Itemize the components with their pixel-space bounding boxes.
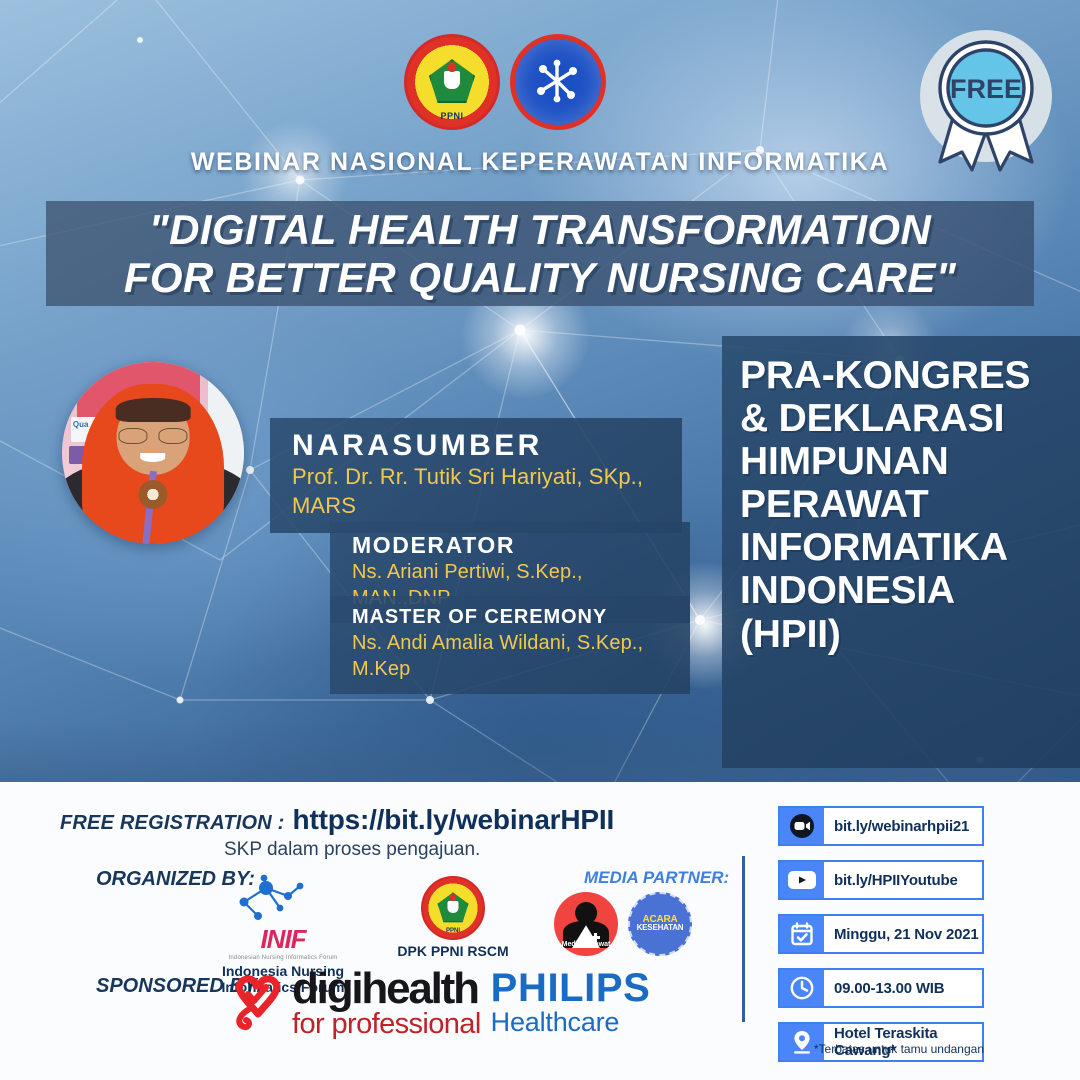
registration-row: FREE REGISTRATION : https://bit.ly/webin… — [60, 804, 614, 836]
location-pin-icon — [780, 1024, 824, 1060]
free-badge-text: FREE — [950, 74, 1022, 104]
portrait-glasses-icon — [118, 428, 187, 444]
event-title-line-3: HIMPUNAN — [740, 440, 1066, 483]
event-title-line-6: INDONESIA — [740, 569, 1066, 612]
hpii-network-glyph — [527, 51, 589, 113]
info-badge-youtube-text: bit.ly/HPIIYoutube — [824, 862, 982, 898]
speaker-role-mc: MASTER OF CEREMONY — [352, 606, 668, 630]
youtube-play-icon — [780, 862, 824, 898]
main-title-bar: "DIGITAL HEALTH TRANSFORMATION FOR BETTE… — [46, 201, 1034, 306]
portrait-brooch — [138, 480, 167, 509]
zoom-camera-icon — [780, 808, 824, 844]
free-ribbon-badge: FREE — [910, 22, 1062, 174]
ppni-lamp-icon — [444, 71, 460, 89]
speaker-role-moderator: MODERATOR — [352, 532, 668, 559]
main-title-line-2: FOR BETTER QUALITY NURSING CARE" — [124, 254, 956, 301]
main-title-line-1: "DIGITAL HEALTH TRANSFORMATION — [149, 206, 931, 253]
registration-note: SKP dalam proses pengajuan. — [224, 839, 480, 861]
speaker-portrait: Qua — [62, 362, 244, 544]
info-badge-list: bit.ly/webinarhpii21 bit.ly/HPIIYoutube — [778, 806, 984, 1062]
event-title-line-1: PRA-KONGRES — [740, 354, 1066, 397]
portrait-hair — [116, 398, 191, 422]
event-title-block: PRA-KONGRES & DEKLARASI HIMPUNAN PERAWAT… — [722, 336, 1080, 768]
info-badge-time[interactable]: 09.00-13.00 WIB — [778, 968, 984, 1008]
speaker-name-mc: Ns. Andi Amalia Wildani, S.Kep., M.Kep — [352, 630, 668, 682]
info-badge-zoom-text: bit.ly/webinarhpii21 — [824, 808, 982, 844]
speaker-panel-narasumber: NARASUMBER Prof. Dr. Rr. Tutik Sri Hariy… — [270, 418, 682, 533]
event-title-line-7: (HPII) — [740, 613, 1066, 656]
ppni-seal-icon: PERSATUAN PERAWAT NASIONAL INDONESIA PPN… — [404, 34, 500, 130]
info-badge-location-text: Hotel Teraskita Cawang* — [824, 1024, 982, 1060]
info-badge-date-text: Minggu, 21 Nov 2021 — [824, 916, 982, 952]
info-badge-zoom-link[interactable]: bit.ly/webinarhpii21 — [778, 806, 984, 846]
speaker-role-narasumber: NARASUMBER — [292, 428, 660, 463]
poster-root: PERSATUAN PERAWAT NASIONAL INDONESIA PPN… — [0, 0, 1080, 1080]
info-badge-location[interactable]: Hotel Teraskita Cawang* — [778, 1022, 984, 1062]
speaker-panel-mc: MASTER OF CEREMONY Ns. Andi Amalia Wilda… — [330, 596, 690, 694]
portrait-poster-1-text: Qua — [73, 420, 89, 429]
registration-url-link[interactable]: https://bit.ly/webinarHPII — [293, 804, 615, 836]
ppni-seal-label: PPNI — [407, 111, 497, 121]
calendar-check-icon — [780, 916, 824, 952]
event-title-line-4: PERAWAT — [740, 483, 1066, 526]
event-title-line-2: & DEKLARASI — [740, 397, 1066, 440]
clock-icon — [780, 970, 824, 1006]
speaker-name-narasumber: Prof. Dr. Rr. Tutik Sri Hariyati, SKp., … — [292, 463, 660, 520]
info-badge-date[interactable]: Minggu, 21 Nov 2021 — [778, 914, 984, 954]
event-title-line-5: INFORMATIKA — [740, 526, 1066, 569]
registration-label: FREE REGISTRATION : — [60, 812, 285, 835]
info-badge-time-text: 09.00-13.00 WIB — [824, 970, 982, 1006]
info-badge-youtube-link[interactable]: bit.ly/HPIIYoutube — [778, 860, 984, 900]
hpii-seal-icon — [510, 34, 606, 130]
organization-seals: PERSATUAN PERAWAT NASIONAL INDONESIA PPN… — [404, 34, 606, 130]
